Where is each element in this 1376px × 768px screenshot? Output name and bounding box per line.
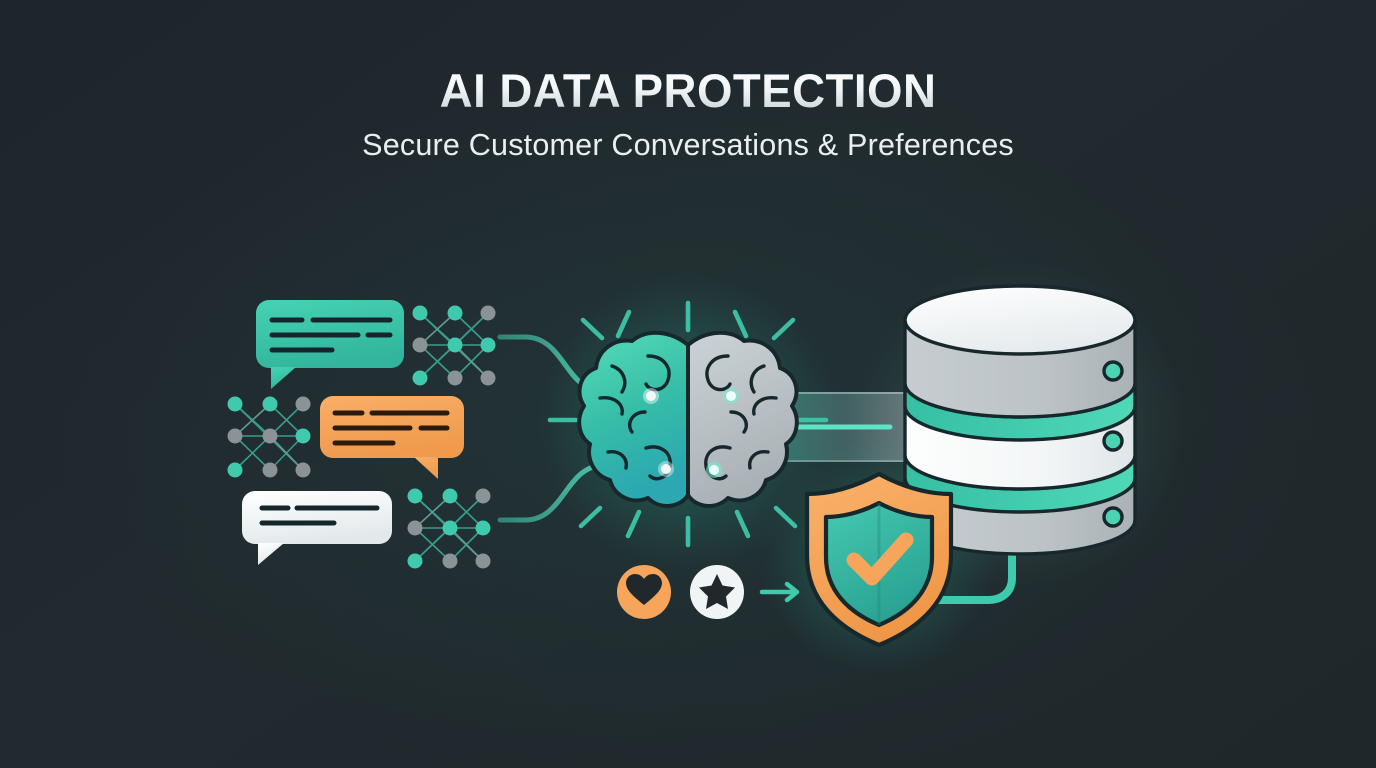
security-shield[interactable] <box>0 0 1376 768</box>
infographic-canvas: AI DATA PROTECTION Secure Customer Conve… <box>0 0 1376 768</box>
